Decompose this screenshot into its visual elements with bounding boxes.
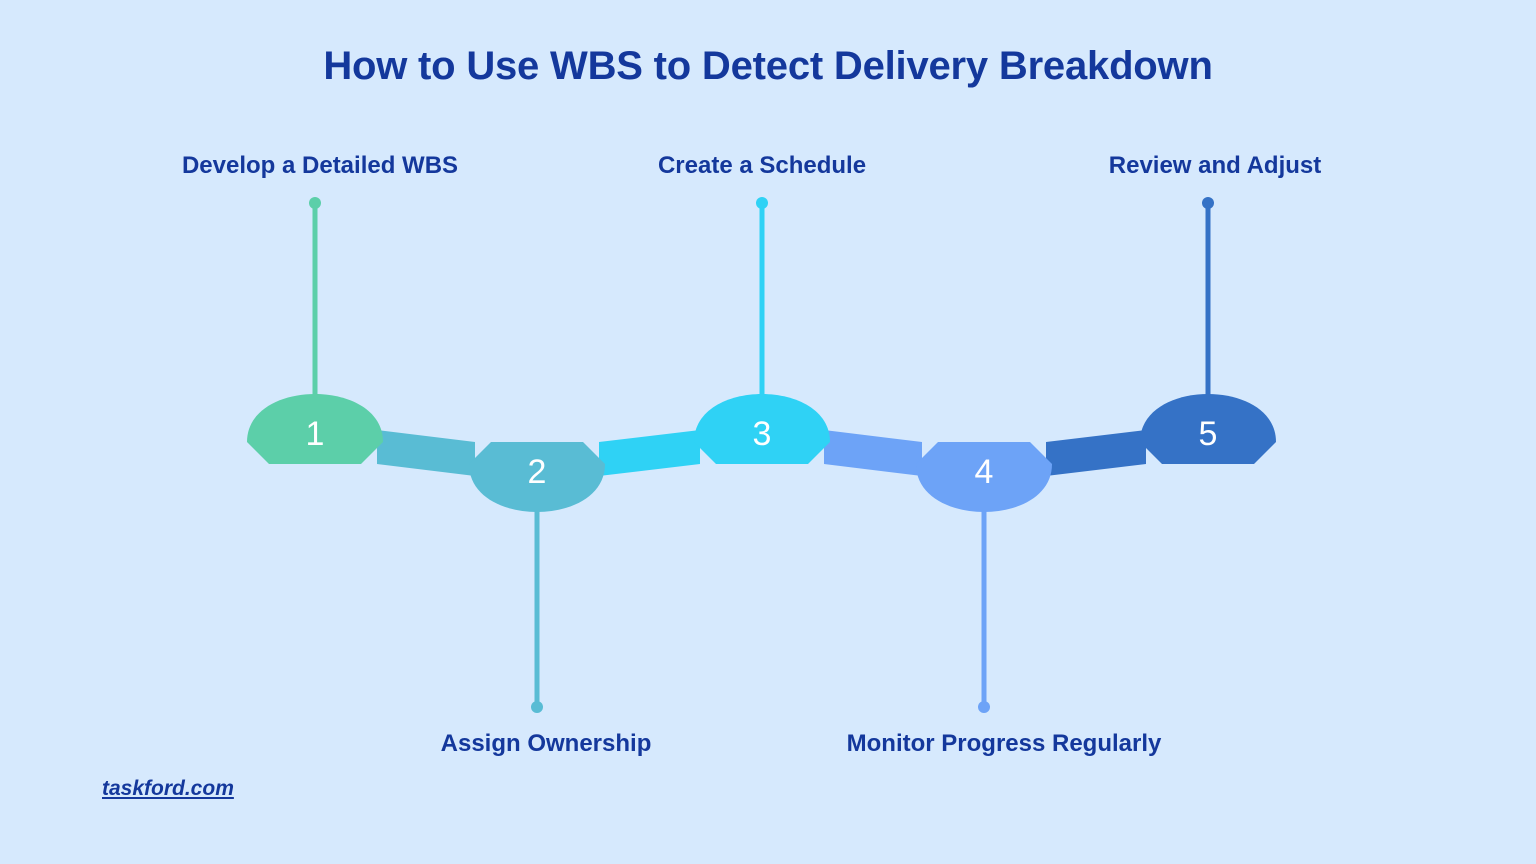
footer-website-link[interactable]: taskford.com: [102, 777, 234, 801]
step-number-4: 4: [975, 453, 994, 491]
connector-1-to-2: [377, 430, 475, 476]
stem-dot-1: [309, 197, 321, 209]
stem-dot-4: [978, 701, 990, 713]
step-label-2: Assign Ownership: [441, 730, 652, 758]
step-number-5: 5: [1199, 415, 1218, 453]
step-label-5: Review and Adjust: [1109, 152, 1321, 180]
step-label-3: Create a Schedule: [658, 152, 866, 180]
step-number-1: 1: [306, 415, 325, 453]
step-number-2: 2: [528, 453, 547, 491]
process-diagram: 12345: [0, 0, 1536, 864]
connector-2-to-3: [599, 430, 700, 476]
stem-dot-3: [756, 197, 768, 209]
stem-dot-5: [1202, 197, 1214, 209]
infographic-canvas: How to Use WBS to Detect Delivery Breakd…: [0, 0, 1536, 864]
connector-4-to-5: [1046, 430, 1146, 476]
step-label-4: Monitor Progress Regularly: [847, 730, 1162, 758]
step-number-3: 3: [753, 415, 772, 453]
step-label-1: Develop a Detailed WBS: [182, 152, 458, 180]
connector-3-to-4: [824, 430, 922, 476]
stem-dot-2: [531, 701, 543, 713]
